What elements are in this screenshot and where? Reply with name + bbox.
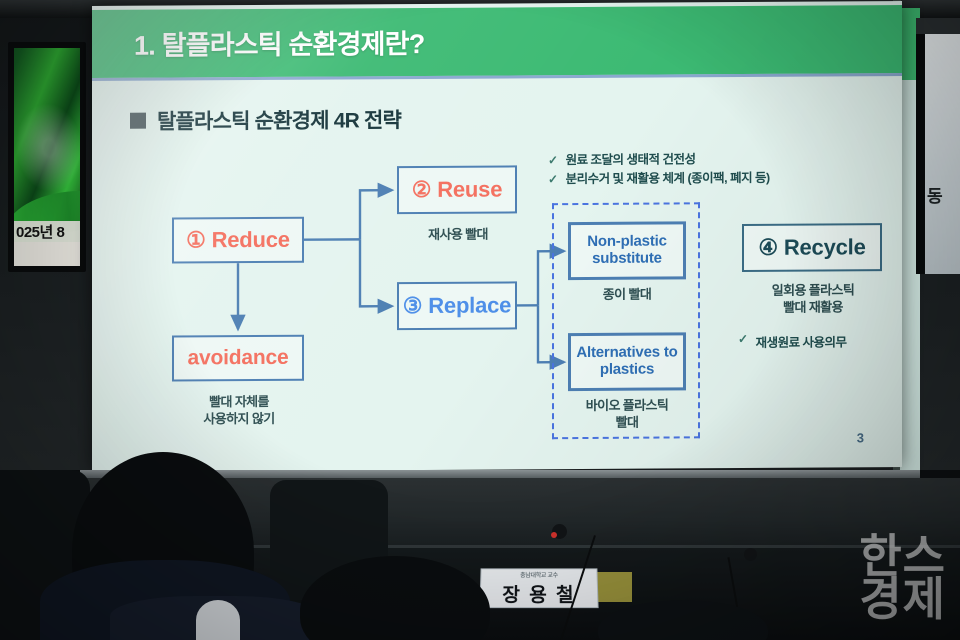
node-recycle[interactable]: ④ Recycle [742, 223, 882, 272]
microphone-head-secondary [744, 548, 757, 561]
side-monitor-right-text: 동 [927, 182, 942, 207]
ecology-check-list: ✓ 원료 조달의 생태적 건전성 ✓ 분리수거 및 재활용 체계 (종이팩, 폐… [548, 150, 770, 189]
recycle-check-item: ✓ 재생원료 사용의무 [738, 331, 847, 351]
check-icon: ✓ [738, 332, 748, 351]
page-number: 3 [857, 430, 864, 445]
node-avoidance[interactable]: avoidance [172, 335, 304, 382]
microphone-led-icon [551, 532, 557, 538]
node-alternatives-to-plastics[interactable]: Alternatives to plastics [568, 332, 686, 391]
check-item-label: 원료 조달의 생태적 건전성 [566, 150, 696, 170]
side-monitor-left: 025년 8 [8, 42, 86, 272]
list-item: ✓ 분리수거 및 재활용 체계 (종이팩, 폐지 등) [548, 169, 770, 189]
node-reduce[interactable]: ① Reduce [172, 217, 304, 264]
projected-slide: 1. 탈플라스틱 순환경제란? 탈플라스틱 순환경제 4R 전략 [92, 1, 902, 472]
audience-collar [196, 600, 240, 640]
screenshot-root: 025년 8 동 1. 탈플라스틱 순환경제란? 탈플라스틱 순환경제 4R 전… [0, 0, 960, 640]
slide-content: 1. 탈플라스틱 순환경제란? 탈플라스틱 순환경제 4R 전략 [92, 1, 902, 472]
caption-bio-plastic: 바이오 플라스틱 빨대 [554, 396, 700, 431]
side-monitor-left-footer [14, 242, 80, 266]
side-monitor-right-glow [925, 34, 960, 274]
node-reuse[interactable]: ② Reuse [397, 165, 517, 214]
node-replace[interactable]: ③ Replace [397, 281, 517, 330]
recycle-check-label: 재생원료 사용의무 [756, 331, 847, 351]
caption-recycle: 일회용 플라스틱 빨대 재활용 [732, 281, 894, 316]
nameplate-name: 장 용 철 [502, 580, 576, 607]
side-monitor-left-caption: 025년 8 [14, 221, 80, 242]
nameplate-affiliation: 충남대학교 교수 [520, 570, 558, 579]
side-monitor-right: 동 [916, 34, 960, 274]
check-icon: ✓ [548, 151, 558, 169]
list-item: ✓ 원료 조달의 생태적 건전성 [548, 150, 770, 170]
check-icon: ✓ [548, 170, 558, 188]
check-item-label: 분리수거 및 재활용 체계 (종이팩, 폐지 등) [566, 169, 770, 189]
green-straws-image [8, 42, 86, 238]
caption-paper-straw: 종이 빨대 [568, 285, 686, 303]
node-non-plastic-substitute[interactable]: Non-plastic substitute [568, 221, 686, 280]
caption-avoidance: 빨대 자체를 사용하지 않기 [164, 393, 314, 428]
caption-reuse: 재사용 빨대 [392, 225, 524, 243]
